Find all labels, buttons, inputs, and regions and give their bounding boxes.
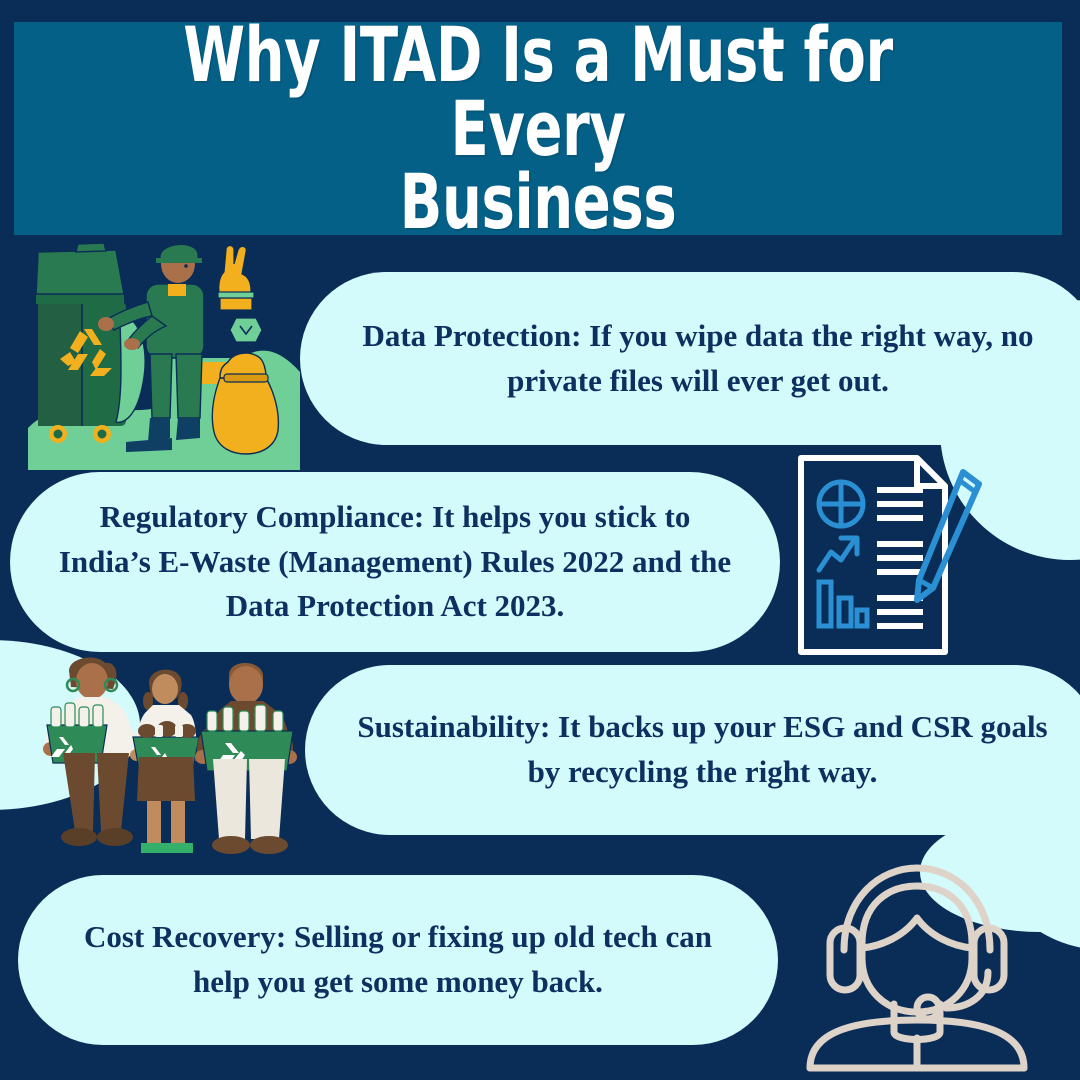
bubble-text-data-protection: Data Protection: If you wipe data the ri… — [344, 314, 1052, 404]
person-left — [43, 657, 135, 846]
bubble-text-regulatory-compliance: Regulatory Compliance: It helps you stic… — [56, 495, 734, 630]
pie-chart-icon — [819, 482, 863, 526]
point-bubble-sustainability: Sustainability: It backs up your ESG and… — [305, 665, 1080, 835]
bubble-text-cost-recovery: Cost Recovery: Selling or fixing up old … — [64, 915, 732, 1005]
person-middle — [130, 670, 200, 853]
point-bubble-data-protection: Data Protection: If you wipe data the ri… — [300, 272, 1080, 445]
person-right — [195, 663, 297, 854]
document-pencil-illustration — [795, 452, 995, 664]
trend-arrow-icon — [819, 538, 857, 570]
header-band: Why ITAD Is a Must for Every Business — [14, 22, 1062, 235]
infographic-canvas: Why ITAD Is a Must for Every Business — [0, 0, 1080, 1080]
point-bubble-cost-recovery: Cost Recovery: Selling or fixing up old … — [18, 875, 778, 1045]
page-title: Why ITAD Is a Must for Every Business — [149, 18, 926, 239]
document-text-lines — [877, 490, 923, 626]
recycling-people-illustration — [35, 645, 315, 870]
point-bubble-regulatory-compliance: Regulatory Compliance: It helps you stic… — [10, 472, 780, 652]
waste-worker-illustration — [20, 232, 310, 470]
support-agent-illustration — [800, 852, 1035, 1072]
bar-chart-icon — [819, 582, 867, 626]
bubble-text-sustainability: Sustainability: It backs up your ESG and… — [351, 705, 1054, 795]
